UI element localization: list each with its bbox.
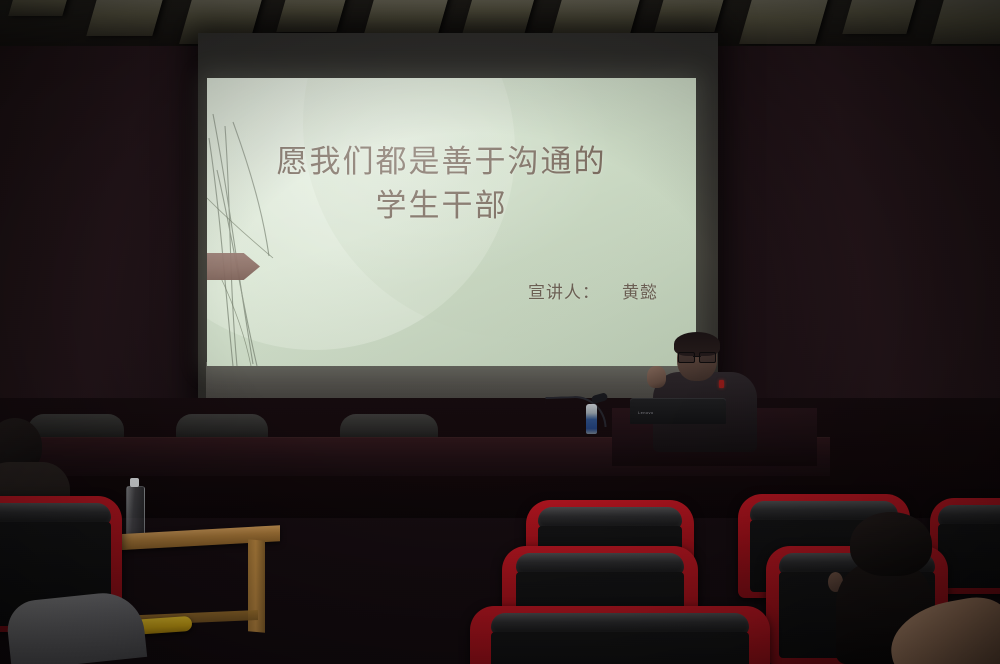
microphone	[546, 390, 606, 428]
ceiling-baffle	[739, 0, 829, 44]
presenter-label: 宣讲人：	[528, 283, 600, 302]
lecture-hall-photo: 愿我们都是善于沟通的 学生干部 宣讲人：黄懿 Lenovo	[0, 0, 1000, 664]
ceiling-baffle	[8, 0, 69, 16]
microphone-head-icon	[591, 392, 609, 404]
bottle-cap	[130, 478, 139, 487]
speaker-person	[645, 330, 765, 450]
laptop: Lenovo	[630, 398, 726, 424]
speaker-raised-hand	[647, 366, 666, 388]
ceiling-baffle	[654, 0, 725, 32]
wall-left	[0, 0, 206, 420]
seat-back	[491, 632, 749, 664]
ceiling-baffle	[276, 0, 347, 32]
audience-person-right-bun	[850, 512, 932, 576]
ceiling-baffle	[931, 0, 1000, 44]
slide-presenter-line: 宣讲人：黄懿	[528, 278, 658, 303]
audience-seat	[470, 606, 770, 664]
stage-water-bottle	[586, 404, 597, 434]
ceiling-baffle	[86, 0, 163, 36]
glasses-lens-right	[699, 352, 716, 363]
presentation-slide: 愿我们都是善于沟通的 学生干部 宣讲人：黄懿	[207, 78, 696, 366]
microphone-arm	[545, 395, 606, 429]
presenter-name: 黄懿	[622, 283, 658, 302]
bottle-body	[126, 486, 145, 538]
audience-water-bottle	[126, 478, 143, 536]
speaker-badge	[719, 380, 724, 388]
ceiling-baffle	[462, 0, 535, 34]
glasses-lens-left	[678, 352, 695, 363]
ceiling-baffle	[842, 0, 917, 34]
speaker-glasses-icon	[678, 352, 716, 361]
laptop-brand-label: Lenovo	[638, 410, 654, 415]
slide-title: 愿我们都是善于沟通的 学生干部	[207, 140, 676, 228]
